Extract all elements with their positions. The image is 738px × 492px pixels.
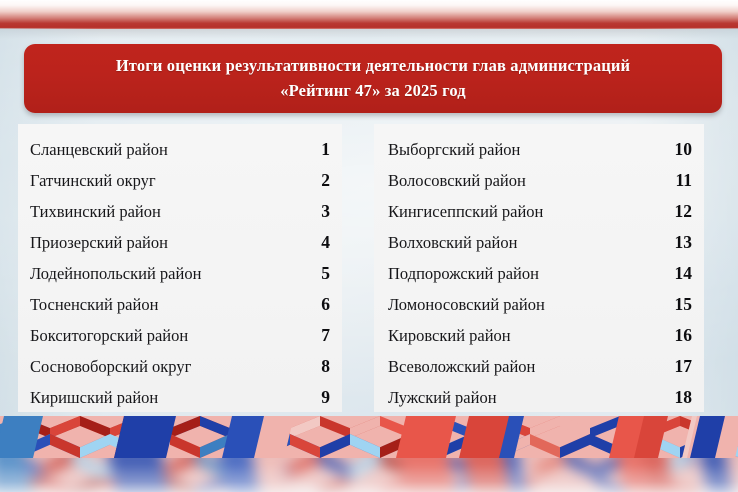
- district-rank: 7: [300, 320, 334, 351]
- district-rank: 9: [300, 382, 334, 413]
- district-rank: 5: [300, 258, 334, 289]
- ranking-list-right: Выборгский район10Волосовский район11Кин…: [388, 134, 696, 413]
- ranking-row: Киришский район9: [30, 382, 334, 413]
- ranking-row: Кингисеппский район12: [388, 196, 696, 227]
- district-name: Гатчинский округ: [30, 165, 156, 196]
- district-name: Волосовский район: [388, 165, 526, 196]
- district-rank: 16: [662, 320, 696, 351]
- slide-root: Итоги оценки результативности деятельнос…: [0, 0, 738, 492]
- district-name: Сосновоборский округ: [30, 351, 191, 382]
- ranking-row: Сланцевский район1: [30, 134, 334, 165]
- district-name: Тихвинский район: [30, 196, 161, 227]
- district-rank: 18: [662, 382, 696, 413]
- chevron-reflection-svg: [0, 458, 738, 492]
- ranking-list-left: Сланцевский район1Гатчинский округ2Тихви…: [30, 134, 334, 413]
- district-name: Подпорожский район: [388, 258, 539, 289]
- district-rank: 8: [300, 351, 334, 382]
- district-name: Приозерский район: [30, 227, 168, 258]
- district-rank: 2: [300, 165, 334, 196]
- district-name: Волховский район: [388, 227, 517, 258]
- title-line-2: «Рейтинг 47» за 2025 год: [280, 78, 466, 103]
- top-red-band: [0, 0, 738, 29]
- chevron-reflection: [0, 458, 738, 492]
- chevron-pattern-svg: [0, 416, 738, 458]
- district-name: Бокситогорский район: [30, 320, 188, 351]
- title-line-1: Итоги оценки результативности деятельнос…: [116, 53, 630, 78]
- district-name: Лужский район: [388, 382, 497, 413]
- ranking-row: Волховский район13: [388, 227, 696, 258]
- district-rank: 1: [300, 134, 334, 165]
- ranking-row: Волосовский район11: [388, 165, 696, 196]
- top-band-shadow: [0, 29, 738, 39]
- district-name: Сланцевский район: [30, 134, 168, 165]
- district-name: Киришский район: [30, 382, 158, 413]
- ranking-row: Тихвинский район3: [30, 196, 334, 227]
- ranking-row: Всеволожский район17: [388, 351, 696, 382]
- district-rank: 17: [662, 351, 696, 382]
- decorative-chevron-strip: [0, 416, 738, 458]
- ranking-panel-right: Выборгский район10Волосовский район11Кин…: [374, 124, 704, 412]
- ranking-row: Лужский район18: [388, 382, 696, 413]
- ranking-row: Лодейнопольский район5: [30, 258, 334, 289]
- ranking-row: Выборгский район10: [388, 134, 696, 165]
- ranking-row: Тосненский район6: [30, 289, 334, 320]
- district-rank: 14: [662, 258, 696, 289]
- ranking-row: Бокситогорский район7: [30, 320, 334, 351]
- ranking-row: Подпорожский район14: [388, 258, 696, 289]
- district-name: Кингисеппский район: [388, 196, 543, 227]
- ranking-row: Сосновоборский округ8: [30, 351, 334, 382]
- ranking-panel-left: Сланцевский район1Гатчинский округ2Тихви…: [18, 124, 342, 412]
- district-name: Тосненский район: [30, 289, 158, 320]
- district-name: Выборгский район: [388, 134, 520, 165]
- district-rank: 12: [662, 196, 696, 227]
- district-rank: 6: [300, 289, 334, 320]
- district-rank: 15: [662, 289, 696, 320]
- district-name: Лодейнопольский район: [30, 258, 201, 289]
- district-rank: 13: [662, 227, 696, 258]
- ranking-row: Приозерский район4: [30, 227, 334, 258]
- ranking-row: Кировский район16: [388, 320, 696, 351]
- district-rank: 4: [300, 227, 334, 258]
- district-rank: 10: [662, 134, 696, 165]
- district-name: Кировский район: [388, 320, 511, 351]
- title-banner: Итоги оценки результативности деятельнос…: [24, 44, 722, 113]
- district-name: Всеволожский район: [388, 351, 535, 382]
- district-rank: 3: [300, 196, 334, 227]
- district-name: Ломоносовский район: [388, 289, 545, 320]
- district-rank: 11: [662, 165, 696, 196]
- ranking-row: Гатчинский округ2: [30, 165, 334, 196]
- ranking-row: Ломоносовский район15: [388, 289, 696, 320]
